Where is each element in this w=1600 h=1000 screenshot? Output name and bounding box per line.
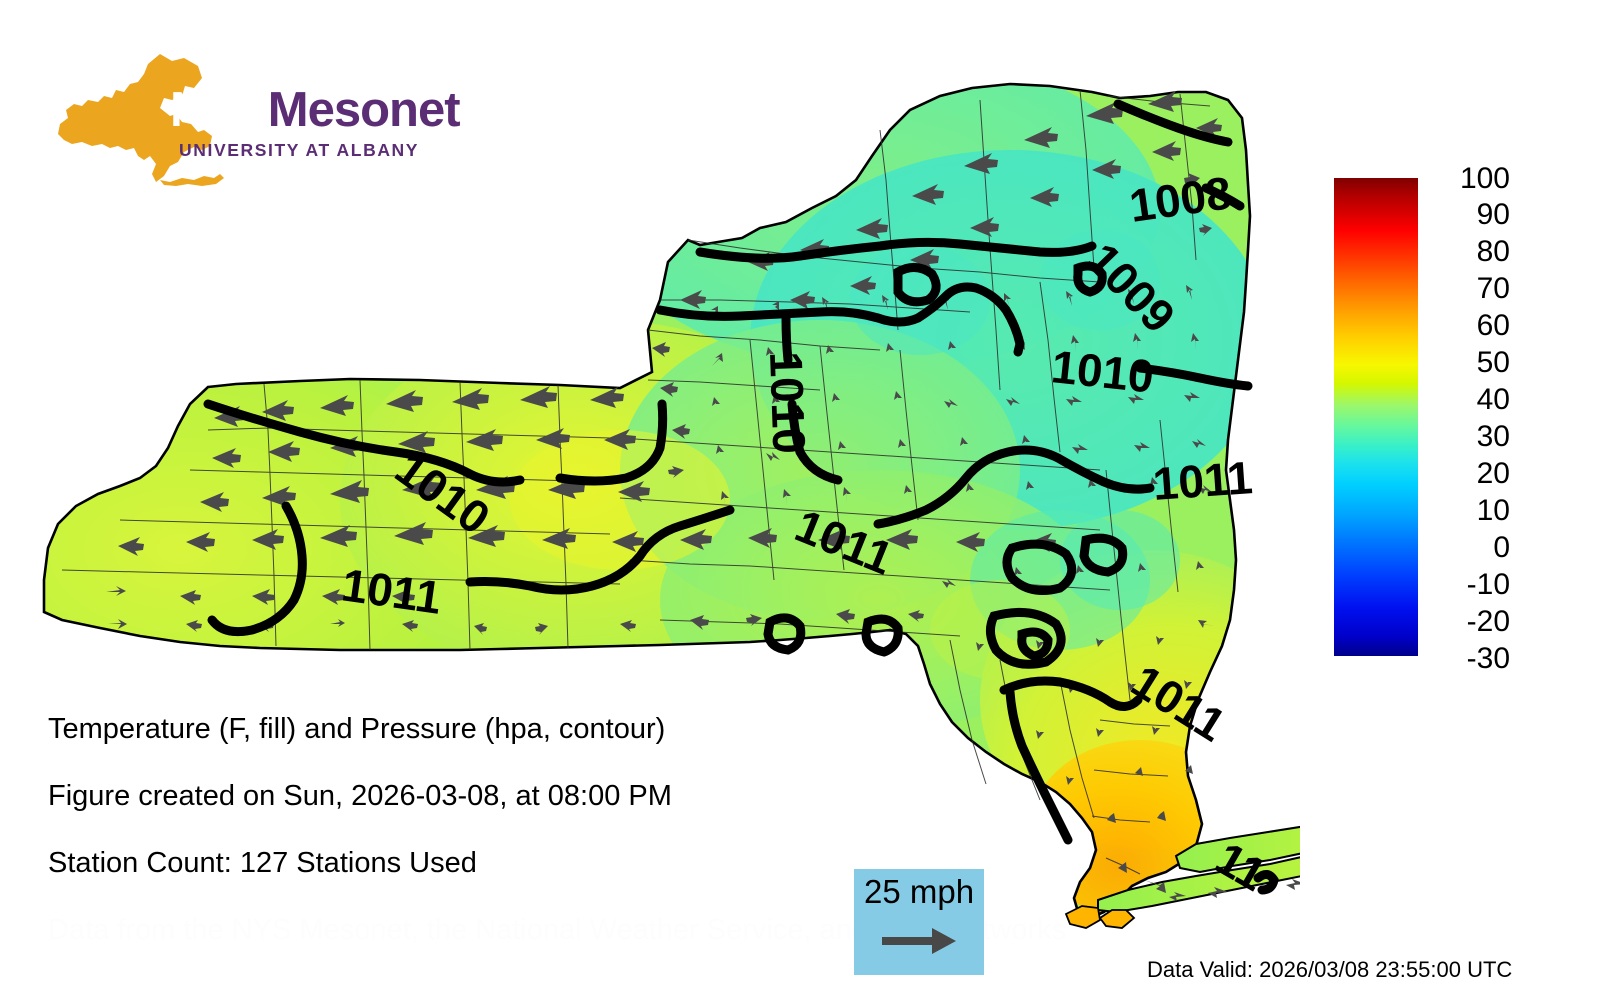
- contour-label-1011-east: 1011: [1151, 451, 1254, 510]
- colorbar-tick: 70: [1424, 274, 1510, 304]
- colorbar-tick: 10: [1424, 496, 1510, 526]
- wind-speed-label: 25 mph: [864, 873, 974, 911]
- colorbar-tick: 60: [1424, 311, 1510, 341]
- colorbar-tick: 40: [1424, 385, 1510, 415]
- colorbar-gradient: [1334, 178, 1418, 656]
- colorbar-tick: 100: [1424, 164, 1510, 194]
- colorbar-tick: -30: [1424, 644, 1510, 674]
- caption-block: Temperature (F, fill) and Pressure (hpa,…: [48, 715, 838, 944]
- colorbar-tick: -20: [1424, 607, 1510, 637]
- temperature-colorbar: [1334, 178, 1418, 656]
- caption-line-created: Figure created on Sun, 2026-03-08, at 08…: [48, 782, 838, 810]
- contour-label-1010-central: 1010: [760, 351, 816, 455]
- colorbar-tick-labels: 100 90 80 70 60 50 40 30 20 10 0 -10 -20…: [1424, 160, 1544, 680]
- colorbar-tick: 50: [1424, 348, 1510, 378]
- caption-line-stations: Station Count: 127 Stations Used: [48, 849, 838, 877]
- colorbar-tick: 80: [1424, 237, 1510, 267]
- colorbar-tick: 20: [1424, 459, 1510, 489]
- colorbar-tick: 90: [1424, 200, 1510, 230]
- weather-map-figure: NYSMesonet UNIVERSITY AT ALBANY: [0, 0, 1600, 1000]
- contour-label-1010-east: 1010: [1049, 340, 1156, 402]
- colorbar-tick: 0: [1424, 533, 1510, 563]
- wind-speed-legend: 25 mph: [854, 869, 984, 975]
- colorbar-tick: -10: [1424, 570, 1510, 600]
- data-valid-timestamp: Data Valid: 2026/03/08 23:55:00 UTC: [1147, 957, 1512, 983]
- wind-arrow-icon: [880, 924, 960, 958]
- caption-line-title: Temperature (F, fill) and Pressure (hpa,…: [48, 715, 838, 743]
- caption-line-source: Data from the NYS Mesonet, the National …: [48, 916, 838, 944]
- colorbar-tick: 30: [1424, 422, 1510, 452]
